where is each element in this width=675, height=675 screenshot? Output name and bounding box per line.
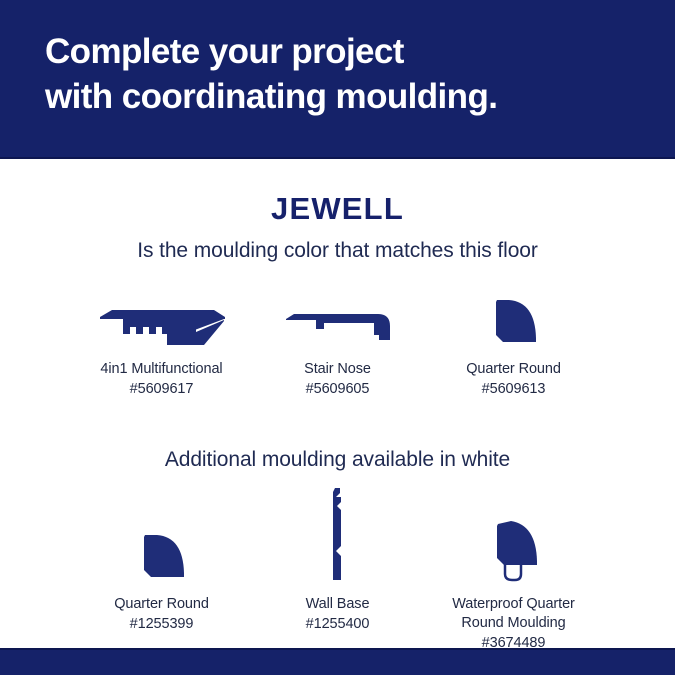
product-4in1-multifunctional[interactable]: 4in1 Multifunctional #5609617 bbox=[74, 285, 250, 400]
product-figure bbox=[135, 486, 189, 582]
product-row-primary: 4in1 Multifunctional #5609617 Stair Nose… bbox=[0, 285, 675, 400]
product-figure bbox=[323, 486, 353, 582]
product-quarter-round-white[interactable]: Quarter Round #1255399 bbox=[74, 486, 250, 635]
additional-moulding-heading: Additional moulding available in white bbox=[0, 448, 675, 472]
wall-base-profile-icon bbox=[323, 486, 353, 582]
product-name: Quarter Round bbox=[466, 360, 561, 379]
product-sku: #1255399 bbox=[130, 615, 194, 634]
quarter-round-profile-icon bbox=[487, 297, 541, 347]
product-waterproof-quarter-round[interactable]: Waterproof Quarter Round Moulding #36744… bbox=[426, 486, 602, 654]
product-figure bbox=[483, 486, 545, 582]
brand-tagline: Is the moulding color that matches this … bbox=[0, 239, 675, 263]
product-sku: #5609605 bbox=[306, 380, 370, 399]
page-title: Complete your project with coordinating … bbox=[45, 30, 675, 120]
product-sku: #5609617 bbox=[130, 380, 194, 399]
main-content: JEWELL Is the moulding color that matche… bbox=[0, 159, 675, 650]
product-name: Quarter Round bbox=[114, 595, 209, 614]
product-figure bbox=[282, 285, 394, 347]
product-name: Stair Nose bbox=[304, 360, 371, 379]
footer-bar bbox=[0, 650, 675, 675]
product-figure bbox=[92, 285, 232, 347]
product-row-secondary: Quarter Round #1255399 Wall Base #125540… bbox=[0, 486, 675, 654]
product-name: Waterproof Quarter Round Moulding bbox=[452, 595, 575, 634]
header-banner: Complete your project with coordinating … bbox=[0, 0, 675, 157]
product-sku: #1255400 bbox=[306, 615, 370, 634]
product-sku: #5609613 bbox=[482, 380, 546, 399]
brand-name: JEWELL bbox=[0, 191, 675, 227]
4in1-multifunctional-profile-icon bbox=[92, 303, 232, 347]
quarter-round-profile-icon bbox=[135, 532, 189, 582]
product-stair-nose[interactable]: Stair Nose #5609605 bbox=[250, 285, 426, 400]
product-wall-base[interactable]: Wall Base #1255400 bbox=[250, 486, 426, 635]
product-figure bbox=[487, 285, 541, 347]
product-quarter-round-primary[interactable]: Quarter Round #5609613 bbox=[426, 285, 602, 400]
product-name: Wall Base bbox=[306, 595, 370, 614]
waterproof-quarter-round-profile-icon bbox=[483, 512, 545, 582]
stair-nose-profile-icon bbox=[282, 307, 394, 347]
product-name: 4in1 Multifunctional bbox=[100, 360, 222, 379]
